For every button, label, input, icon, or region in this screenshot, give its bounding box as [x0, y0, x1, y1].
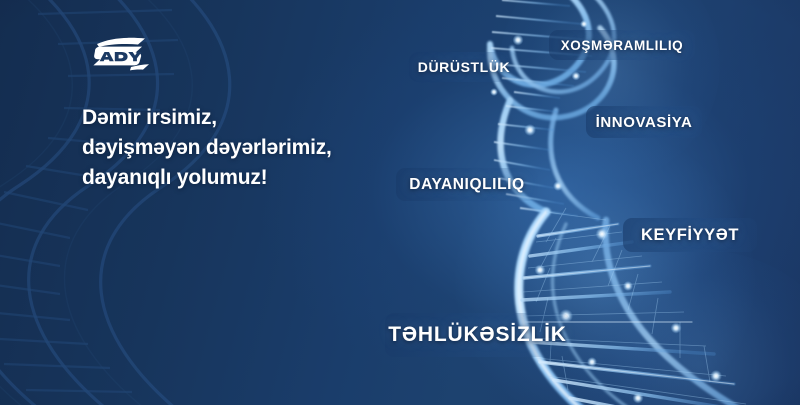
value-label-dayaniqliliq: DAYANIQLILIQ: [396, 168, 538, 201]
headline-line-1: Dəmir irsimiz,: [82, 103, 382, 133]
ady-values-banner: Dəmir irsimiz, dəyişməyən dəyərlərimiz, …: [0, 0, 800, 405]
headline-line-2: dəyişməyən dəyərlərimiz,: [82, 133, 382, 163]
value-label-innovasiya: İNNOVASİYA: [586, 106, 702, 138]
value-label-tehlukesizlik: TƏHLÜKƏSİZLİK: [385, 313, 570, 357]
helix-glow-top: [500, 0, 720, 180]
page-title: Dəmir irsimiz, dəyişməyən dəyərlərimiz, …: [82, 103, 382, 192]
value-label-xosmeramliliq: XOŞMƏRAMLILIQ: [549, 30, 695, 60]
helix-glow-bottom: [560, 250, 800, 405]
headline-line-3: dayanıqlı yolumuz!: [82, 163, 382, 193]
value-label-keyfiyyet: KEYFİYYƏT: [623, 218, 757, 252]
ady-logo[interactable]: [85, 37, 157, 71]
value-label-durustluk: DÜRÜSTLÜK: [409, 52, 519, 82]
